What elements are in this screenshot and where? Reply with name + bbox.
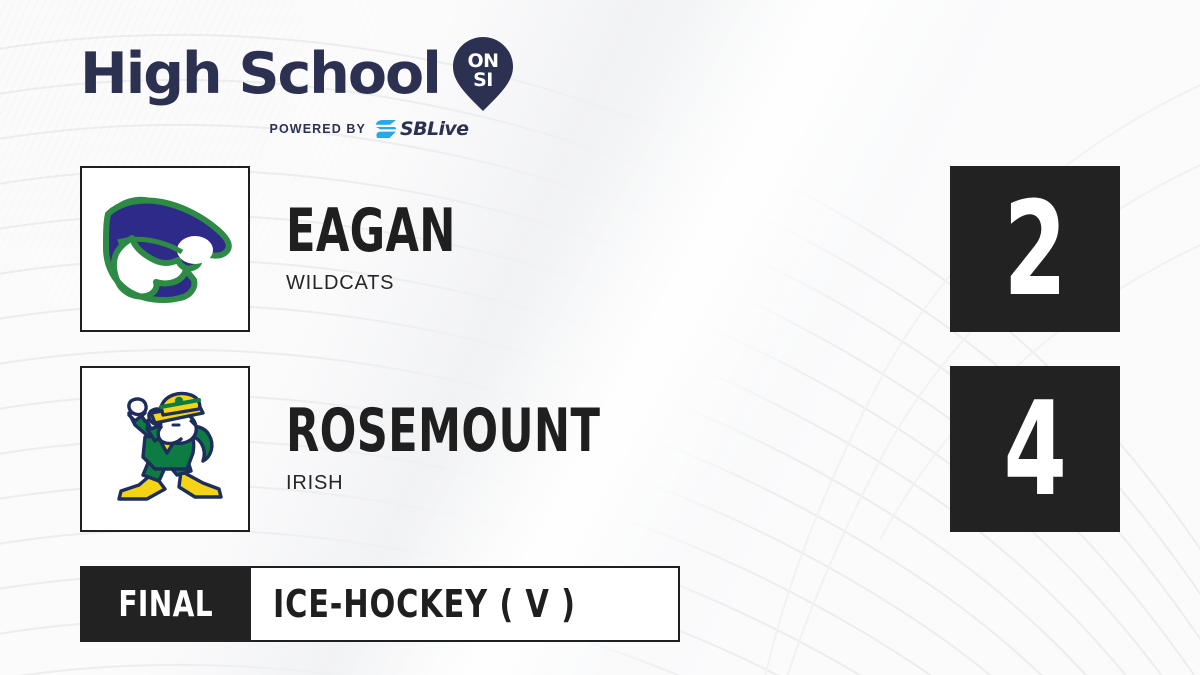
game-status-bar: FINAL ICE-HOCKEY ( V ): [80, 566, 680, 642]
team-score-box: 4: [950, 366, 1120, 532]
team-name: ROSEMOUNT: [286, 403, 886, 460]
sblive-s-mark: [375, 119, 397, 139]
powered-by-row: POWERED BY SBLive: [80, 119, 600, 139]
brand-header: High School ON SI POWERED BY SBLive: [80, 36, 600, 139]
team-logo-box: [80, 166, 250, 332]
game-state-badge: FINAL: [80, 566, 251, 642]
team-score: 2: [1003, 184, 1066, 314]
sblive-wordmark: SBLive: [400, 120, 468, 139]
fighting-irish-leprechaun-logo: [95, 379, 235, 519]
team-name: EAGAN: [286, 203, 886, 260]
team-logo-box: [80, 366, 250, 532]
sport-label-box: ICE-HOCKEY ( V ): [251, 566, 680, 642]
sblive-logo: SBLive: [375, 119, 468, 139]
powered-by-label: POWERED BY: [270, 122, 366, 136]
brand-wordmark: High School: [80, 46, 440, 103]
location-pin-icon: ON SI: [452, 36, 514, 112]
scoreboard-graphic: High School ON SI POWERED BY SBLive: [0, 0, 1200, 675]
game-state-label: FINAL: [118, 584, 213, 625]
brand-logo-row: High School ON SI: [80, 36, 600, 112]
team-score: 4: [1003, 384, 1066, 514]
team-score-box: 2: [950, 166, 1120, 332]
sport-label: ICE-HOCKEY ( V ): [273, 582, 576, 626]
pin-bottom-label: SI: [473, 69, 493, 91]
wildcat-head-logo: [90, 184, 240, 314]
